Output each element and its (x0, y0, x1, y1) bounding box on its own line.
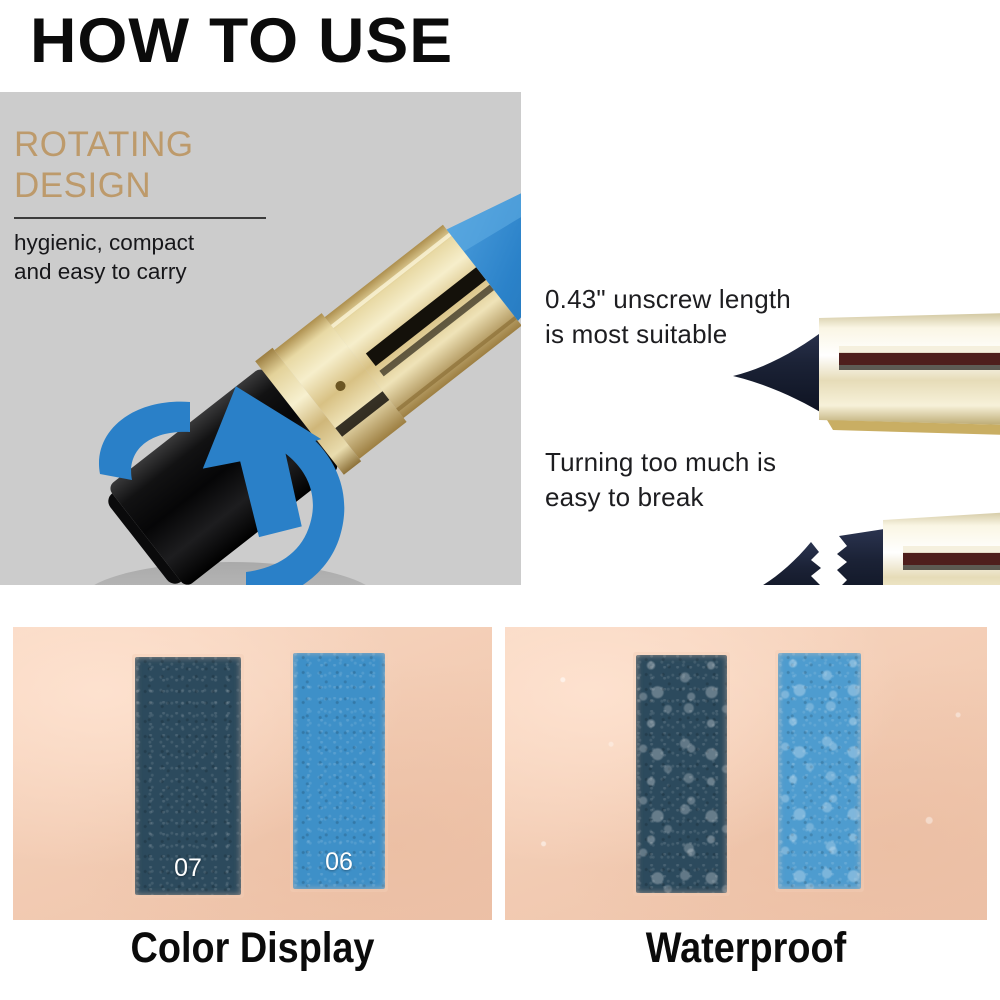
page-title: HOW TO USE (30, 8, 453, 74)
color-display-caption: Color Display (42, 924, 464, 984)
water-droplets (636, 655, 727, 893)
waterproof-caption: Waterproof (534, 924, 958, 984)
break-warning-line1: Turning too much is (545, 445, 895, 480)
rotating-pencil-icon (40, 102, 521, 585)
swatch-waterproof-dark (636, 655, 727, 893)
usage-instructions-panel: 0.43" unscrew length is most suitable Tu… (521, 252, 1000, 585)
waterproof-photo (505, 627, 987, 920)
skin-background (13, 627, 492, 920)
color-display-photo: 07 06 (13, 627, 492, 920)
swatch-06: 06 (293, 653, 385, 889)
swatch-waterproof-blue (778, 653, 861, 889)
swatch-07: 07 (135, 657, 241, 895)
water-droplets (778, 653, 861, 889)
swatch-label: 06 (293, 848, 385, 877)
pencil-intact-icon (715, 290, 1000, 440)
infographic-canvas: HOW TO USE ROTATING DESIGN hygienic, com… (0, 0, 1000, 1000)
rotating-design-panel: ROTATING DESIGN hygienic, compact and ea… (0, 92, 521, 585)
swatch-label: 07 (135, 854, 241, 883)
pencil-broken-icon (715, 480, 1000, 585)
skin-background-wet (505, 627, 987, 920)
